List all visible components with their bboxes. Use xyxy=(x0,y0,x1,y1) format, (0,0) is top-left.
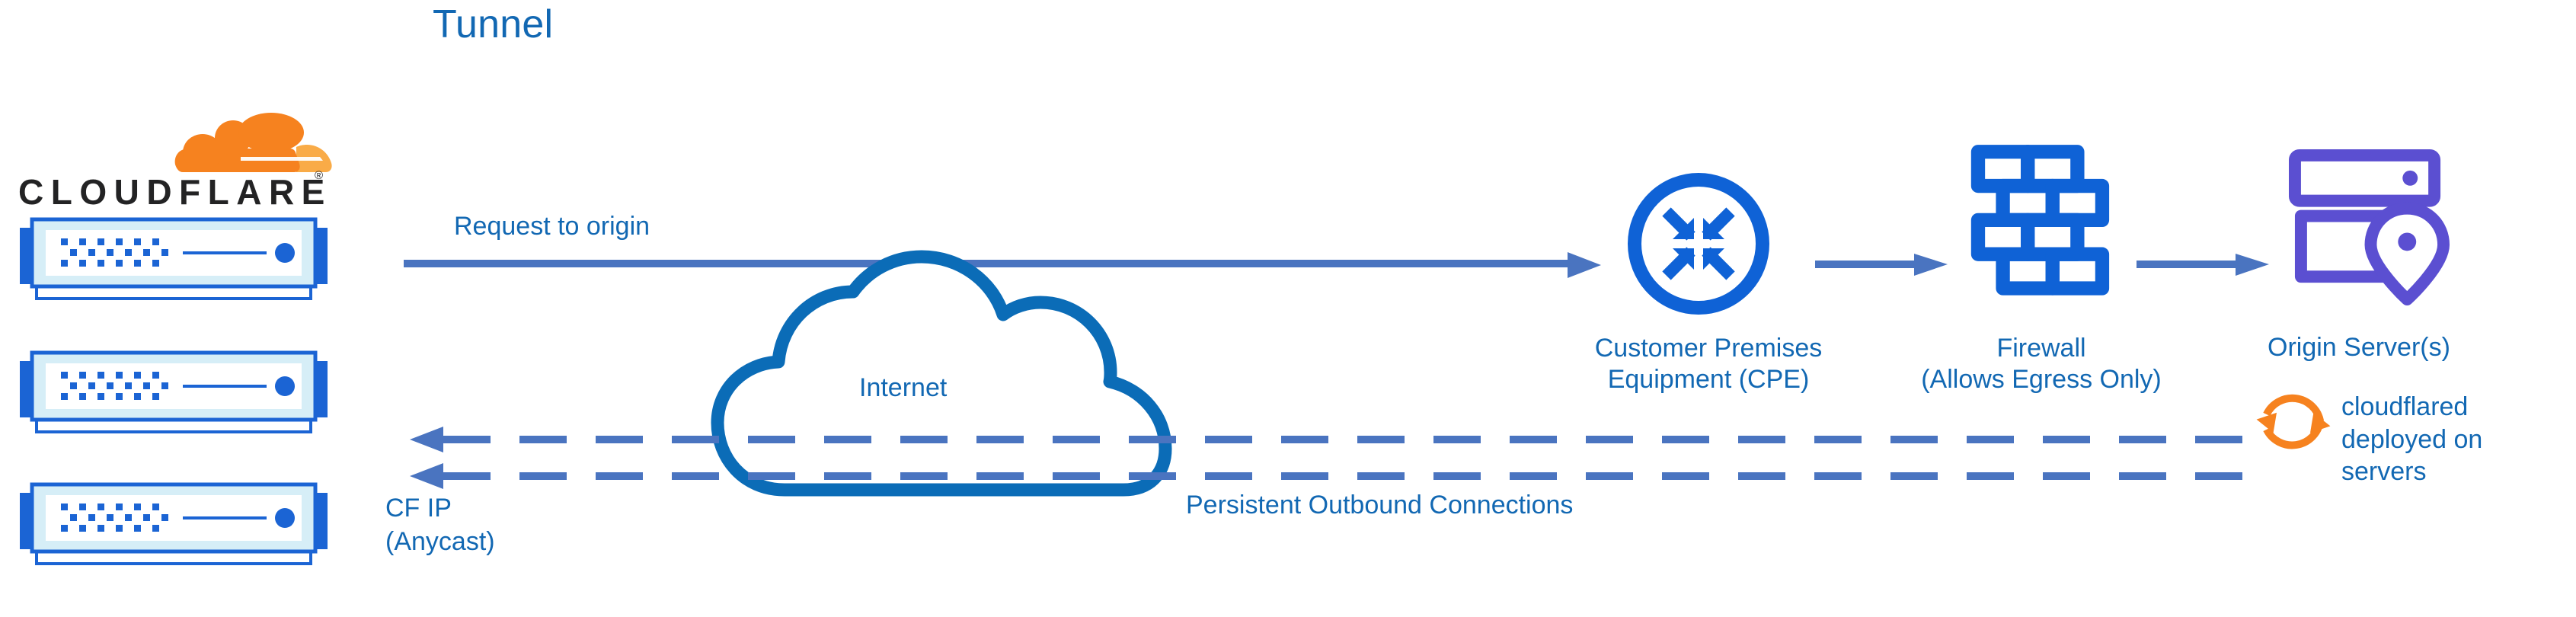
server-rack-icon xyxy=(6,213,341,301)
cloudflared-note-line3: servers xyxy=(2341,456,2547,488)
cloudflared-sync xyxy=(2252,381,2335,465)
sync-arrows-icon xyxy=(2252,381,2335,465)
server-rack-icon xyxy=(6,347,341,434)
registered-trademark-mark: ® xyxy=(315,169,323,182)
diagram-canvas: Tunnel CLOUDFLARE ® xyxy=(0,0,2576,617)
server-rack-icon xyxy=(6,478,341,566)
firewall-to-origin-arrow xyxy=(2137,247,2274,283)
cpe-to-firewall-arrow xyxy=(1815,247,1952,283)
brick-wall-icon xyxy=(1964,141,2120,308)
arrow-right-icon xyxy=(2137,247,2274,283)
arrow-right-icon xyxy=(1815,247,1952,283)
cpe-label: Customer Premises Equipment (CPE) xyxy=(1556,333,1861,395)
cloudflare-wordmark: CLOUDFLARE xyxy=(18,171,332,213)
server-rack-3 xyxy=(6,478,341,566)
request-to-origin-label: Request to origin xyxy=(454,212,650,241)
cf-anycast-label: CF IP (Anycast) xyxy=(385,491,495,558)
firewall-label-line1: Firewall xyxy=(1874,333,2209,364)
origin-label: Origin Server(s) xyxy=(2268,333,2450,363)
persistent-connection-line-2 xyxy=(404,459,2247,493)
server-rack-2 xyxy=(6,347,341,434)
persistent-connection-line-1 xyxy=(404,423,2247,456)
firewall-label-line2: (Allows Egress Only) xyxy=(1874,364,2209,395)
cf-anycast-label-line2: (Anycast) xyxy=(385,525,495,558)
dashed-arrow-left-icon xyxy=(404,423,2247,456)
cloudflared-note-line2: deployed on xyxy=(2341,424,2547,456)
cpe-label-line1: Customer Premises xyxy=(1556,333,1861,364)
server-with-location-pin-icon xyxy=(2287,143,2451,307)
dashed-arrow-left-icon xyxy=(404,459,2247,493)
firewall-label: Firewall (Allows Egress Only) xyxy=(1874,333,2209,395)
firewall-node xyxy=(1964,141,2120,308)
cf-anycast-label-line1: CF IP xyxy=(385,491,495,525)
cpe-node xyxy=(1622,168,1775,320)
cloudflared-note-line1: cloudflared xyxy=(2341,391,2547,424)
cloudflare-cloud-icon xyxy=(174,113,334,174)
page-title: Tunnel xyxy=(433,2,553,47)
router-four-arrows-icon xyxy=(1622,168,1775,320)
cpe-label-line2: Equipment (CPE) xyxy=(1556,364,1861,395)
server-rack-1 xyxy=(6,213,341,301)
cloudflare-logo xyxy=(174,113,334,174)
persistent-outbound-connections-label: Persistent Outbound Connections xyxy=(1186,491,1573,520)
internet-label: Internet xyxy=(859,373,947,403)
origin-node xyxy=(2287,143,2451,307)
cloudflared-note: cloudflared deployed on servers xyxy=(2341,391,2547,488)
